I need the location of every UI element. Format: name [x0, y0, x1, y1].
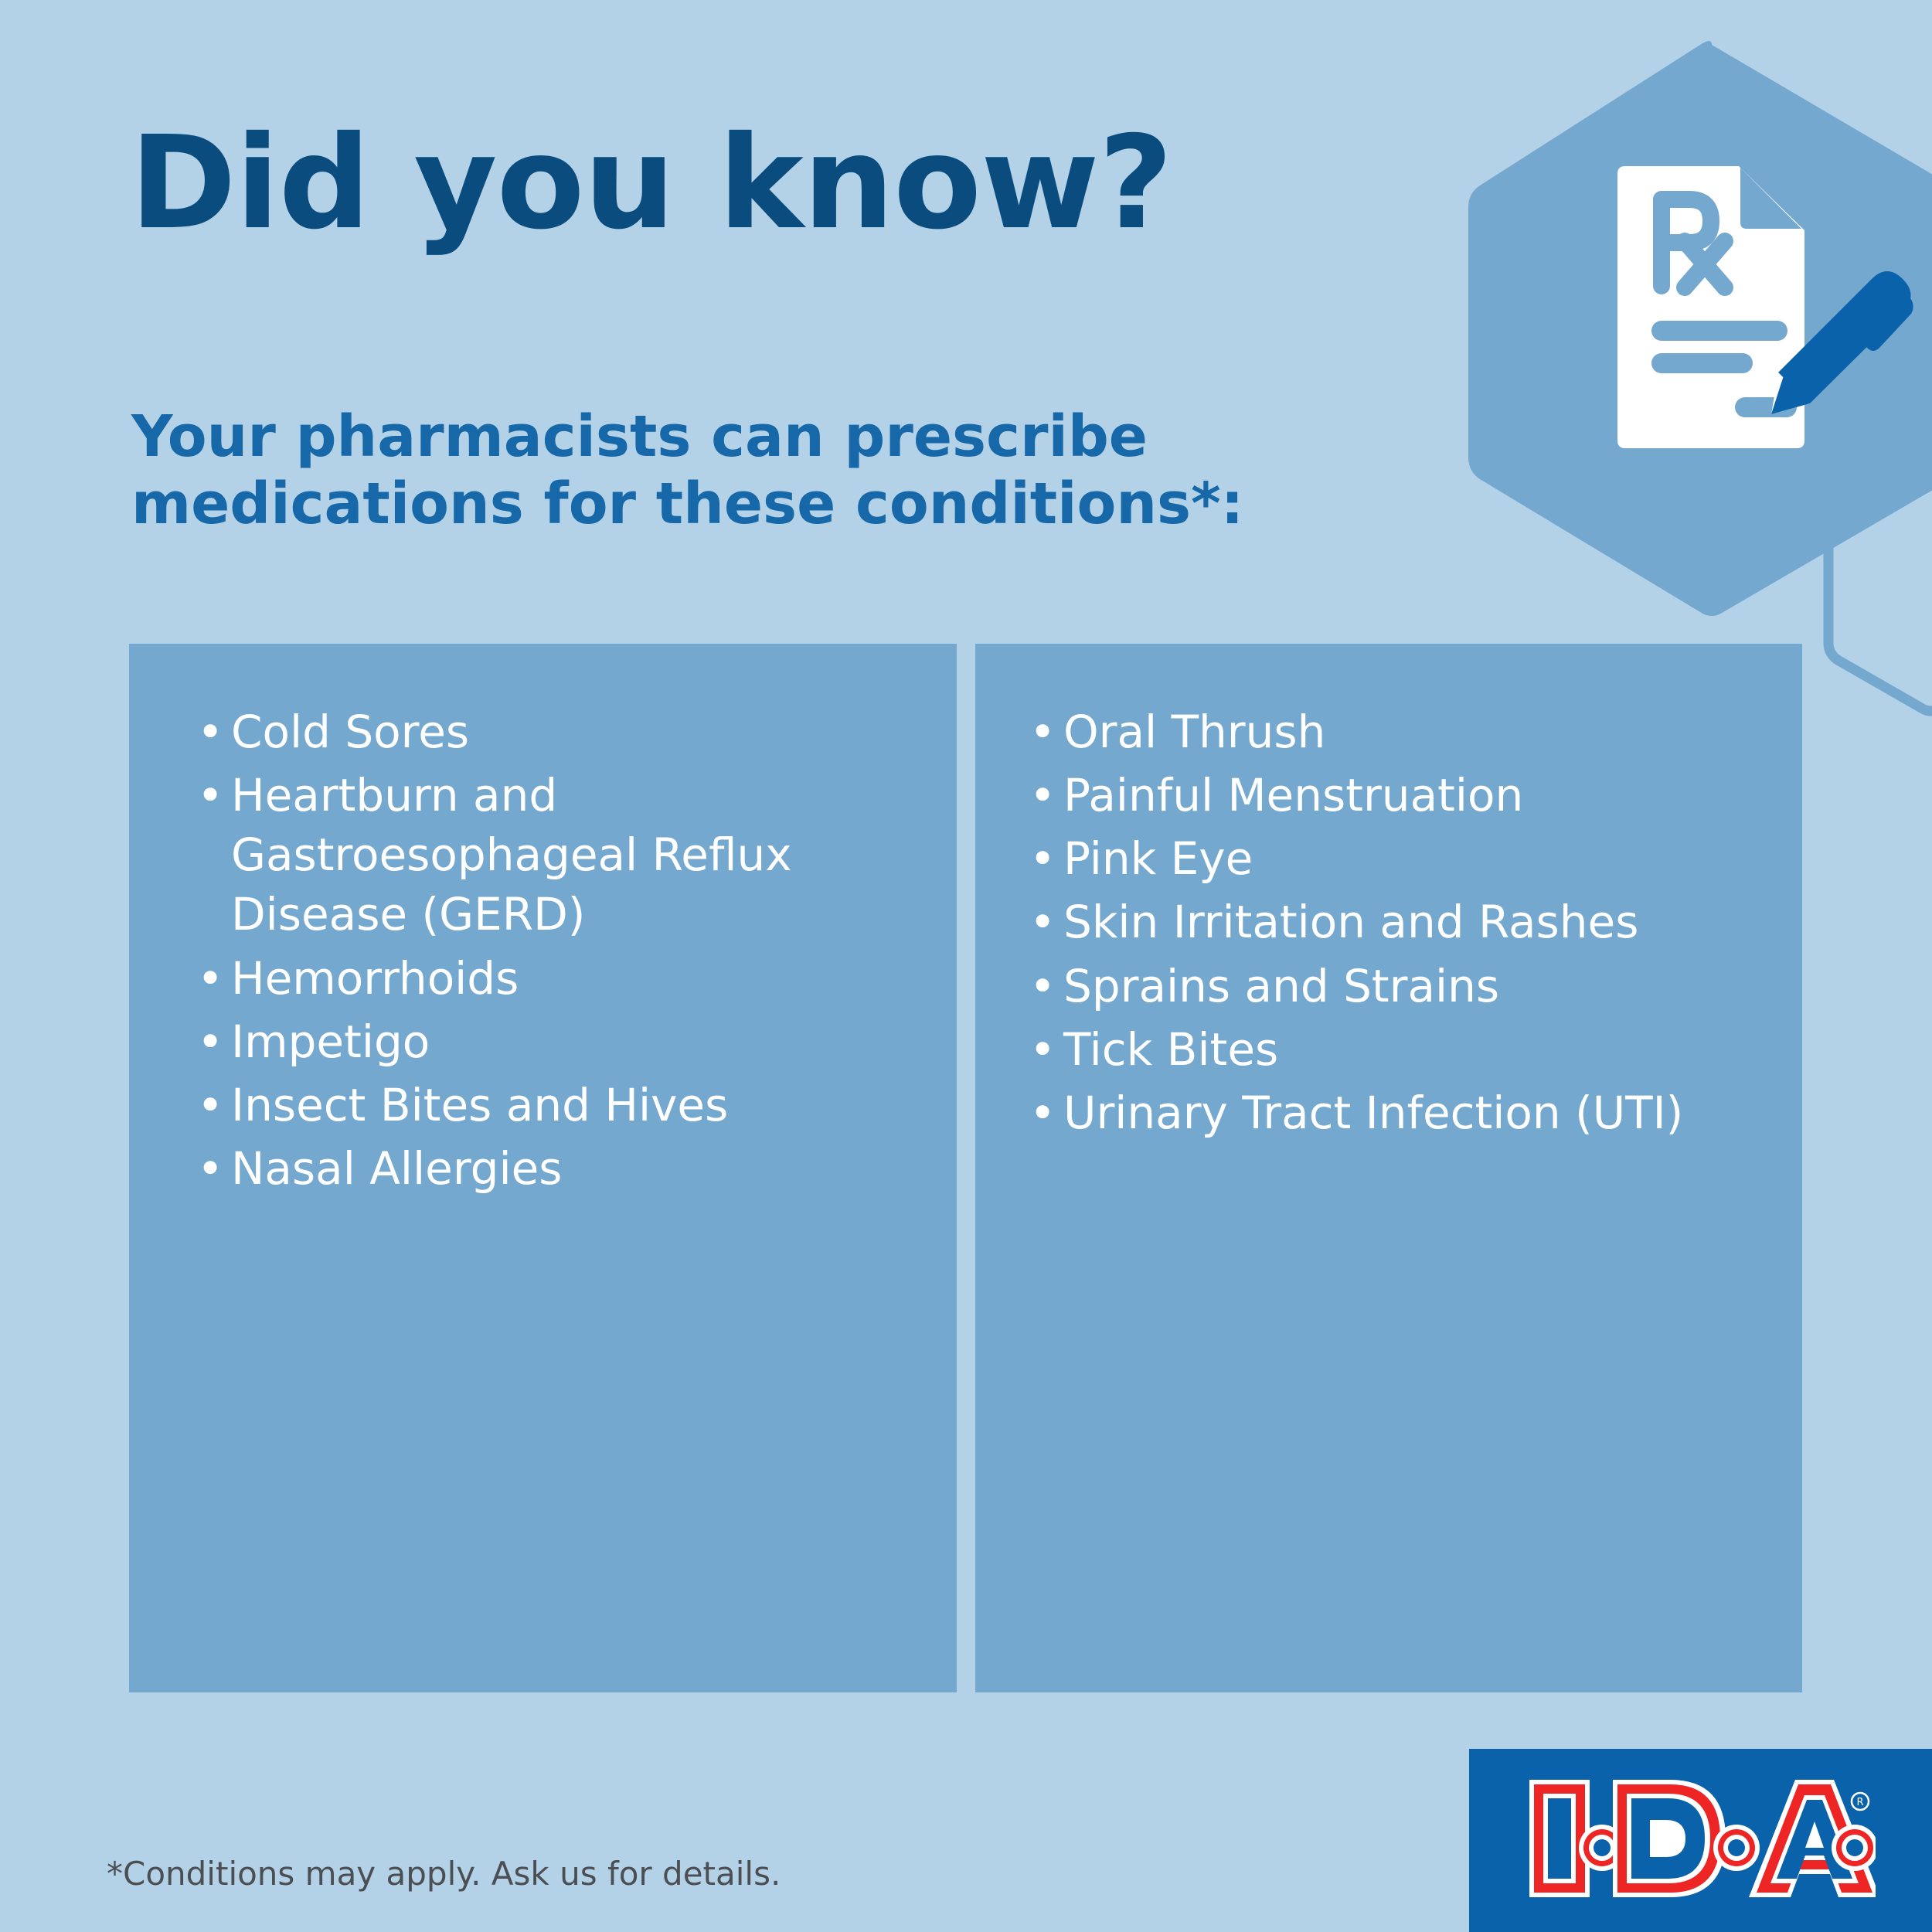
condition-item: •Insect Bites and Hives	[191, 1076, 926, 1135]
bullet-icon: •	[1029, 702, 1056, 762]
condition-item: •Urinary Tract Infection (UTI)	[1023, 1083, 1771, 1143]
condition-label: Pink Eye	[1063, 832, 1253, 885]
hexagon-badge	[1453, 31, 1932, 634]
ida-wordmark: R	[1526, 1777, 1876, 1900]
condition-item: •Sprains and Strains	[1023, 957, 1771, 1016]
conditions-panel-left: •Cold Sores•Heartburn and Gastroesophage…	[129, 644, 957, 1692]
condition-label: Urinary Tract Infection (UTI)	[1063, 1087, 1683, 1139]
ida-logo: R	[1469, 1749, 1932, 1932]
condition-label: Nasal Allergies	[231, 1142, 563, 1195]
footnote-text: *Conditions may apply. Ask us for detail…	[107, 1855, 781, 1893]
infographic-poster: Did you know? Your pharmacists can presc…	[0, 0, 1932, 1932]
registered-trademark-icon: R	[1852, 1793, 1869, 1810]
condition-item: •Oral Thrush	[1023, 702, 1771, 762]
bullet-icon: •	[197, 949, 223, 1009]
conditions-panel-right: •Oral Thrush•Painful Menstruation•Pink E…	[975, 644, 1802, 1692]
bullet-icon: •	[1029, 893, 1056, 952]
condition-label: Skin Irritation and Rashes	[1063, 896, 1638, 948]
page-subtitle: Your pharmacists can prescribe medicatio…	[131, 403, 1243, 539]
document-lines	[1662, 331, 1787, 407]
page-title: Did you know?	[130, 120, 1172, 248]
prescription-document-icon	[1617, 166, 1804, 448]
condition-label: Insect Bites and Hives	[231, 1079, 728, 1131]
bullet-icon: •	[197, 702, 223, 762]
condition-item: •Nasal Allergies	[191, 1139, 926, 1199]
condition-item: •Hemorrhoids	[191, 949, 926, 1009]
bullet-icon: •	[1029, 766, 1056, 825]
condition-item: •Cold Sores	[191, 702, 926, 762]
bullet-icon: •	[197, 1012, 223, 1072]
conditions-list-right: •Oral Thrush•Painful Menstruation•Pink E…	[975, 644, 1802, 1143]
pencil-icon	[1771, 271, 1913, 414]
condition-item: •Pink Eye	[1023, 829, 1771, 889]
logo-letter-i	[1529, 1780, 1590, 1897]
condition-label: Impetigo	[231, 1015, 430, 1068]
bullet-icon: •	[1029, 829, 1056, 889]
condition-item: •Tick Bites	[1023, 1020, 1771, 1080]
rx-symbol	[1662, 199, 1725, 287]
condition-label: Painful Menstruation	[1063, 769, 1523, 821]
condition-label: Tick Bites	[1063, 1023, 1278, 1076]
conditions-list-left: •Cold Sores•Heartburn and Gastroesophage…	[129, 644, 957, 1199]
bullet-icon: •	[1029, 957, 1056, 1016]
condition-item: •Impetigo	[191, 1012, 926, 1072]
condition-label: Oral Thrush	[1063, 706, 1325, 758]
condition-label: Hemorrhoids	[231, 952, 519, 1005]
bullet-icon: •	[1029, 1020, 1056, 1080]
logo-letter-d	[1613, 1780, 1726, 1897]
bullet-icon: •	[197, 1139, 223, 1199]
condition-label: Heartburn and Gastroesophageal Reflux Di…	[231, 769, 792, 940]
condition-label: Cold Sores	[231, 706, 469, 758]
condition-item: •Heartburn and Gastroesophageal Reflux D…	[191, 766, 926, 944]
subtitle-line-2: medications for these conditions*:	[131, 471, 1243, 538]
hexagon-shape	[1468, 41, 1932, 616]
condition-item: •Painful Menstruation	[1023, 766, 1771, 825]
subtitle-line-1: Your pharmacists can prescribe	[131, 403, 1243, 471]
condition-label: Sprains and Strains	[1063, 960, 1499, 1012]
logo-dot-2	[1713, 1825, 1760, 1871]
bullet-icon: •	[1029, 1083, 1056, 1143]
bullet-icon: •	[197, 1076, 223, 1135]
bullet-icon: •	[197, 766, 223, 825]
condition-item: •Skin Irritation and Rashes	[1023, 893, 1771, 952]
svg-text:R: R	[1856, 1797, 1863, 1808]
